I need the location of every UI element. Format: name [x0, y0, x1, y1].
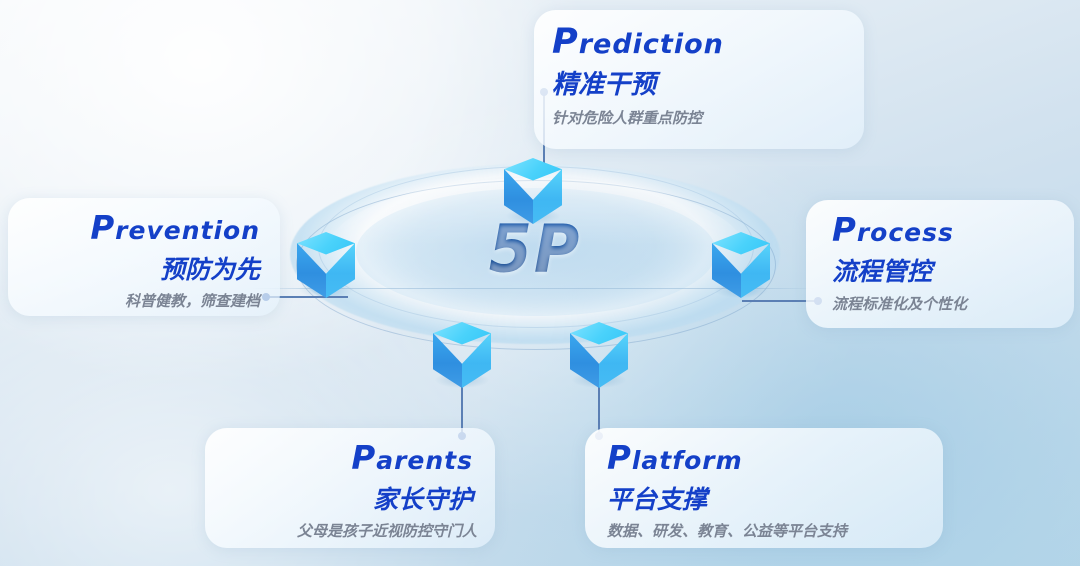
card-prediction-subtitle: 针对危险人群重点防控: [552, 111, 864, 126]
card-prevention-word: revention: [115, 216, 260, 245]
cube-platform: [570, 322, 628, 388]
card-platform-word: latform: [632, 446, 743, 475]
card-process-english: Process: [832, 214, 1074, 247]
card-parents-subtitle: 父母是孩子近视防控守门人: [205, 524, 477, 539]
infographic-canvas: 5P Predict: [0, 0, 1080, 566]
cube-process: [712, 232, 770, 298]
card-parents-english: Parents: [205, 442, 473, 475]
card-prevention-title: 预防为先: [8, 257, 260, 282]
cube-parents: [433, 322, 491, 388]
card-prediction[interactable]: Prediction 精准干预 针对危险人群重点防控: [534, 10, 864, 149]
card-prediction-initial: P: [552, 21, 579, 62]
card-process-subtitle: 流程标准化及个性化: [832, 297, 1074, 312]
card-prediction-title: 精准干预: [552, 72, 864, 98]
card-platform-title: 平台支撑: [607, 487, 943, 512]
card-platform[interactable]: Platform 平台支撑 数据、研发、教育、公益等平台支持: [585, 428, 943, 548]
card-process[interactable]: Process 流程管控 流程标准化及个性化: [806, 200, 1074, 328]
card-platform-subtitle: 数据、研发、教育、公益等平台支持: [607, 524, 943, 539]
card-parents-title: 家长守护: [205, 487, 473, 512]
cube-prevention: [297, 232, 355, 298]
card-parents-word: arents: [376, 446, 473, 475]
card-prevention-subtitle: 科普健教，筛查建档: [8, 294, 260, 309]
card-parents-initial: P: [351, 439, 376, 477]
card-process-word: rocess: [857, 218, 954, 247]
cube-prediction: [504, 158, 562, 224]
card-prevention-english: Prevention: [8, 212, 260, 245]
card-platform-english: Platform: [607, 442, 943, 475]
card-parents[interactable]: Parents 家长守护 父母是孩子近视防控守门人: [205, 428, 495, 548]
card-process-initial: P: [832, 211, 857, 249]
card-prediction-english: Prediction: [552, 24, 864, 59]
card-process-title: 流程管控: [832, 259, 1074, 284]
card-prevention[interactable]: Prevention 预防为先 科普健教，筛查建档: [8, 198, 280, 316]
card-platform-initial: P: [607, 439, 632, 477]
card-prediction-word: rediction: [579, 29, 724, 60]
card-prevention-initial: P: [90, 209, 115, 247]
